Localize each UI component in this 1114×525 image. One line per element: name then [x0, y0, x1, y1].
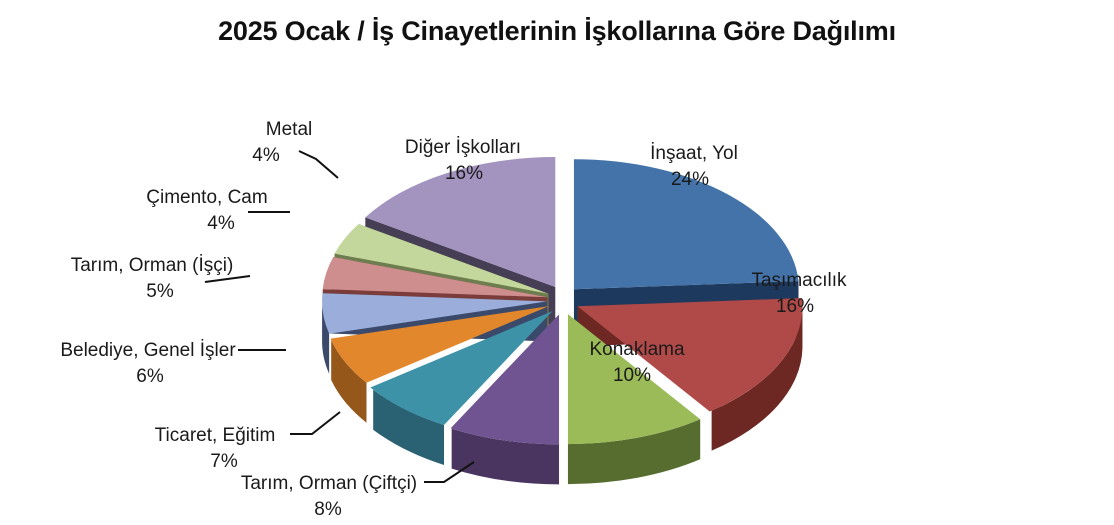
pie-slice-0[interactable] [574, 159, 799, 289]
pie-chart-figure: 2025 Ocak / İş Cinayetlerinin İşkolların… [0, 0, 1114, 525]
leader-line-4 [290, 412, 340, 434]
leader-line-2 [205, 276, 250, 282]
leader-line-0 [299, 151, 338, 178]
pie-slices-layer [322, 157, 802, 484]
pie-chart-canvas [0, 0, 1114, 525]
